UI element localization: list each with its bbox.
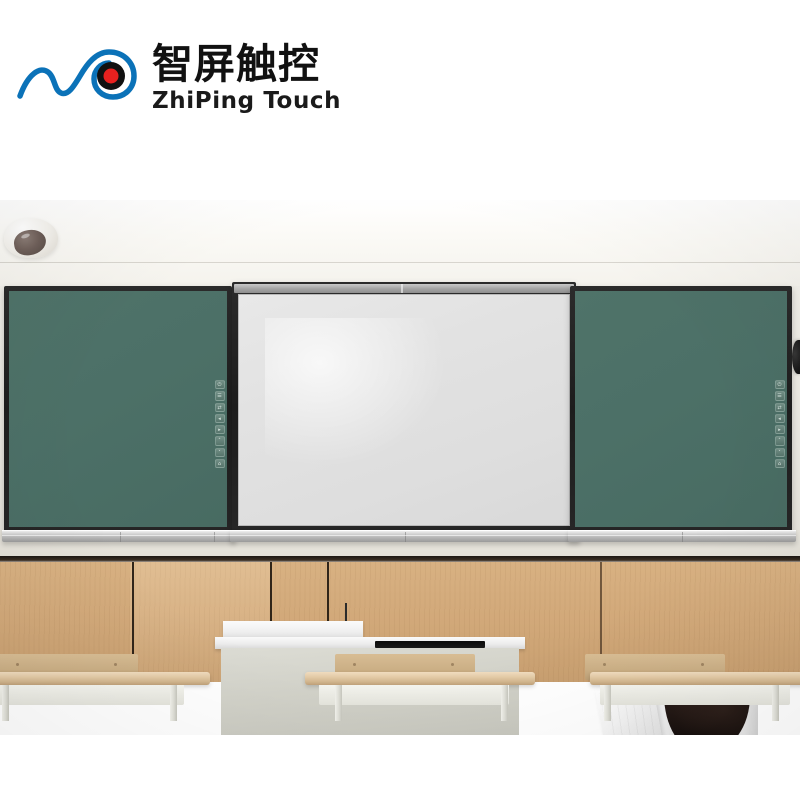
- brand-text: 智屏触控 ZhiPing Touch: [152, 42, 492, 122]
- power-icon[interactable]: ⏻: [215, 380, 225, 389]
- volume-up-icon[interactable]: ▸: [775, 425, 785, 434]
- channel-down-icon[interactable]: ˅: [775, 448, 785, 457]
- center-interactive-whiteboard[interactable]: [232, 282, 576, 532]
- board-assembly: ⏻ ☰ ⇄ ◂ ▸ ˄ ˅ ⌂: [0, 282, 800, 544]
- channel-up-icon[interactable]: ˄: [215, 436, 225, 445]
- classroom-photo: ⏻ ☰ ⇄ ◂ ▸ ˄ ˅ ⌂: [0, 200, 800, 735]
- left-board-control-strip[interactable]: ⏻ ☰ ⇄ ◂ ▸ ˄ ˅ ⌂: [214, 380, 225, 468]
- podium-recess-slot: [375, 641, 485, 648]
- lower-room: [0, 552, 800, 735]
- channel-down-icon[interactable]: ˅: [215, 448, 225, 457]
- volume-up-icon[interactable]: ▸: [215, 425, 225, 434]
- brand-logo-header: 智屏触控 ZhiPing Touch: [0, 0, 800, 200]
- menu-icon[interactable]: ☰: [775, 391, 785, 400]
- student-desk-left[interactable]: [0, 672, 210, 735]
- chalk-tray-center: [230, 530, 580, 542]
- source-icon[interactable]: ⇄: [215, 403, 225, 412]
- right-green-board[interactable]: ⏻ ☰ ⇄ ◂ ▸ ˄ ˅ ⌂: [570, 286, 792, 532]
- right-board-control-strip[interactable]: ⏻ ☰ ⇄ ◂ ▸ ˄ ˅ ⌂: [774, 380, 785, 468]
- brand-name-en: ZhiPing Touch: [152, 88, 492, 115]
- student-desk-right[interactable]: [590, 672, 800, 735]
- ceiling-surface: [0, 200, 800, 290]
- dome-camera-icon: [4, 218, 58, 260]
- page-bottom-whitespace: [0, 735, 800, 800]
- left-green-board[interactable]: ⏻ ☰ ⇄ ◂ ▸ ˄ ˅ ⌂: [4, 286, 232, 532]
- power-icon[interactable]: ⏻: [775, 380, 785, 389]
- source-icon[interactable]: ⇄: [775, 403, 785, 412]
- home-icon[interactable]: ⌂: [215, 459, 225, 468]
- student-desk-center[interactable]: [305, 672, 535, 735]
- chalk-tray-left: [2, 530, 236, 542]
- brand-name-cn: 智屏触控: [152, 42, 492, 86]
- menu-icon[interactable]: ☰: [215, 391, 225, 400]
- ceiling-wall-seam: [0, 262, 800, 263]
- volume-down-icon[interactable]: ◂: [775, 414, 785, 423]
- home-icon[interactable]: ⌂: [775, 459, 785, 468]
- volume-down-icon[interactable]: ◂: [215, 414, 225, 423]
- product-photo-page: 智屏触控 ZhiPing Touch ⏻ ☰ ⇄ ◂ ▸: [0, 0, 800, 800]
- whiteboard-top-rail: [234, 284, 574, 293]
- channel-up-icon[interactable]: ˄: [775, 436, 785, 445]
- wave-spiral-logo-icon: [14, 38, 146, 110]
